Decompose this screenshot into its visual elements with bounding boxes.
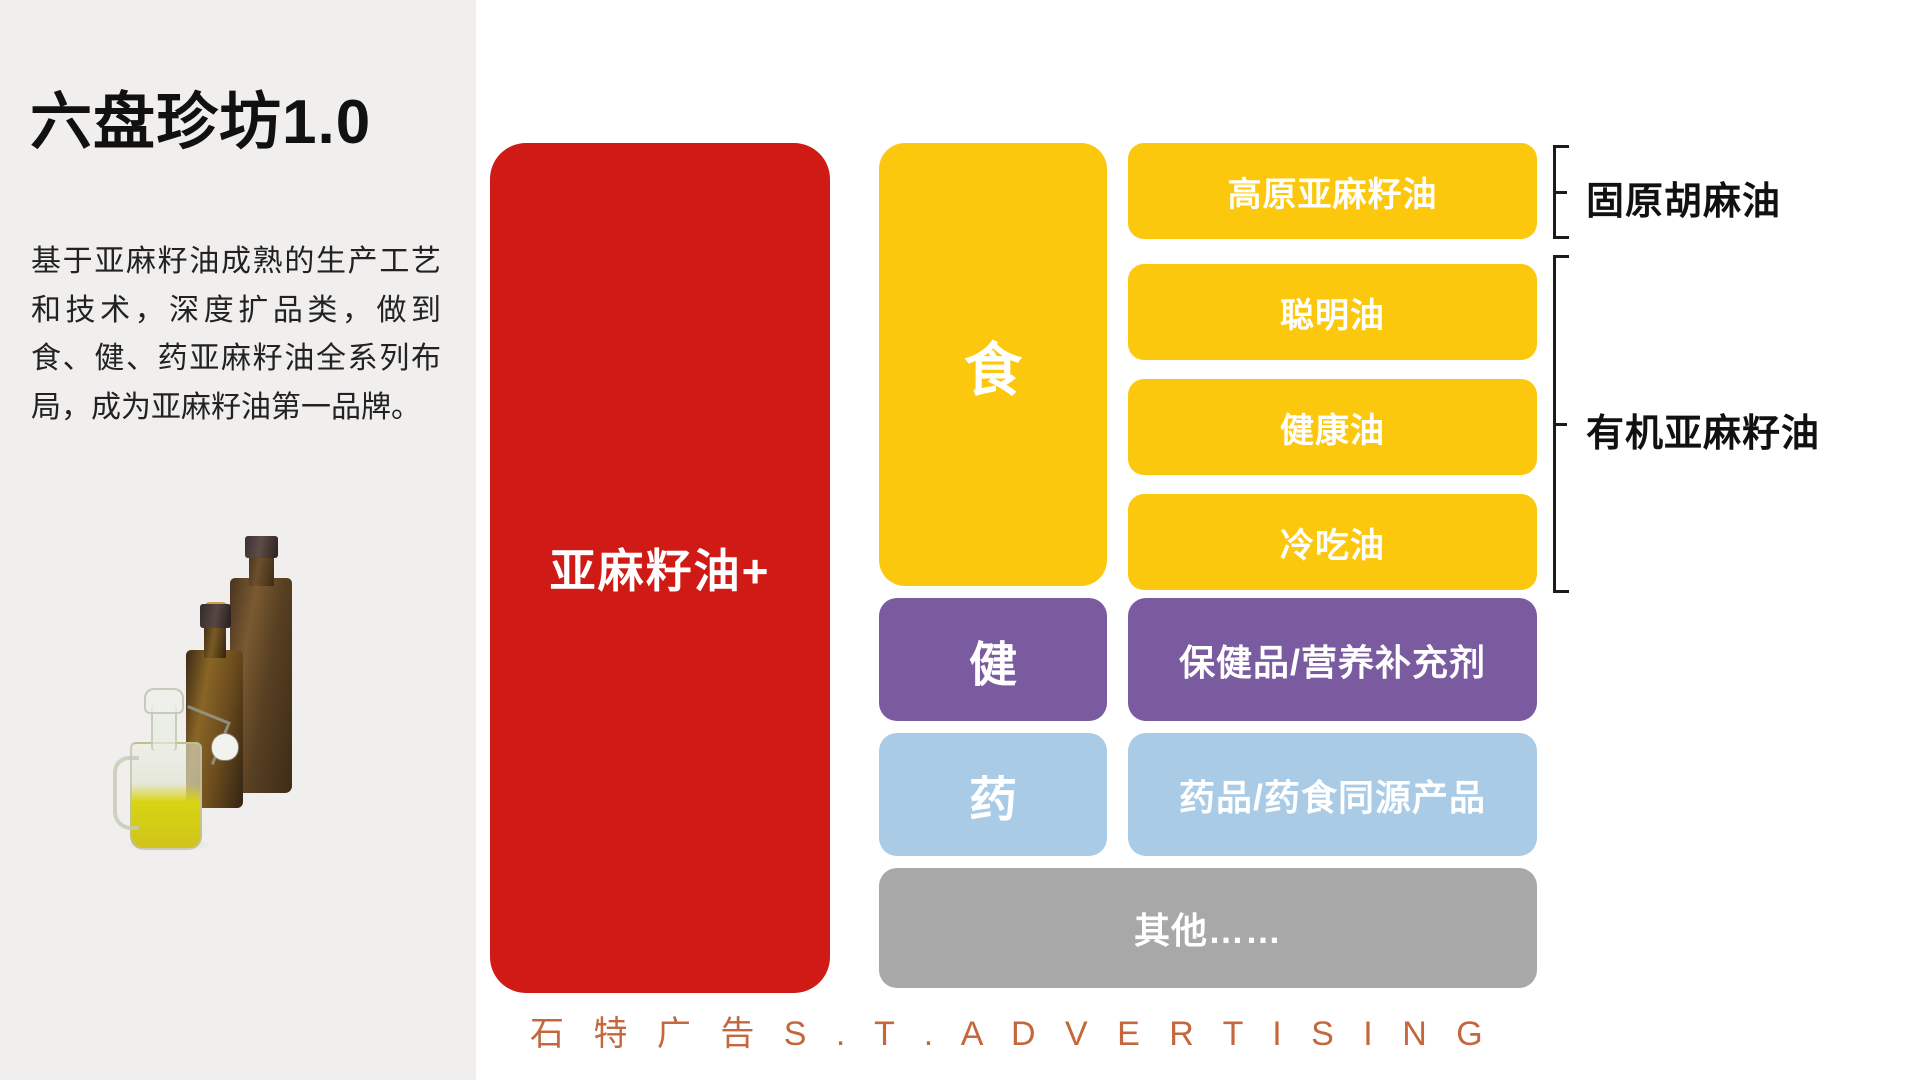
category-node-medicine[interactable]: 药 [879,733,1107,856]
leaf-node-smart-oil[interactable]: 聪明油 [1128,264,1537,360]
category-node-health[interactable]: 健 [879,598,1107,721]
category-node-other[interactable]: 其他…… [879,868,1537,988]
leaf-node-healthy-oil[interactable]: 健康油 [1128,379,1537,475]
bracket-top-tick-icon [1553,191,1567,194]
footer-watermark: 石 特 广 告 S . T . A D V E R T I S I N G [530,1006,1493,1055]
annotation-guyuan-sesame-oil: 固原胡麻油 [1586,170,1781,225]
product-architecture-diagram: 亚麻籽油+ 食 高原亚麻籽油 聪明油 健康油 冷吃油 健 保健品/营养补充剂 药… [0,0,1920,1080]
leaf-node-plateau-flaxseed-oil[interactable]: 高原亚麻籽油 [1128,143,1537,239]
leaf-node-medicine-products[interactable]: 药品/药食同源产品 [1128,733,1537,856]
leaf-node-cold-eat-oil[interactable]: 冷吃油 [1128,494,1537,590]
category-node-food[interactable]: 食 [879,143,1107,586]
root-node-flaxseed-oil-plus[interactable]: 亚麻籽油+ [490,143,830,993]
leaf-node-health-supplements[interactable]: 保健品/营养补充剂 [1128,598,1537,721]
bracket-bottom-tick-icon [1553,423,1567,426]
annotation-organic-flaxseed-oil: 有机亚麻籽油 [1586,402,1820,457]
